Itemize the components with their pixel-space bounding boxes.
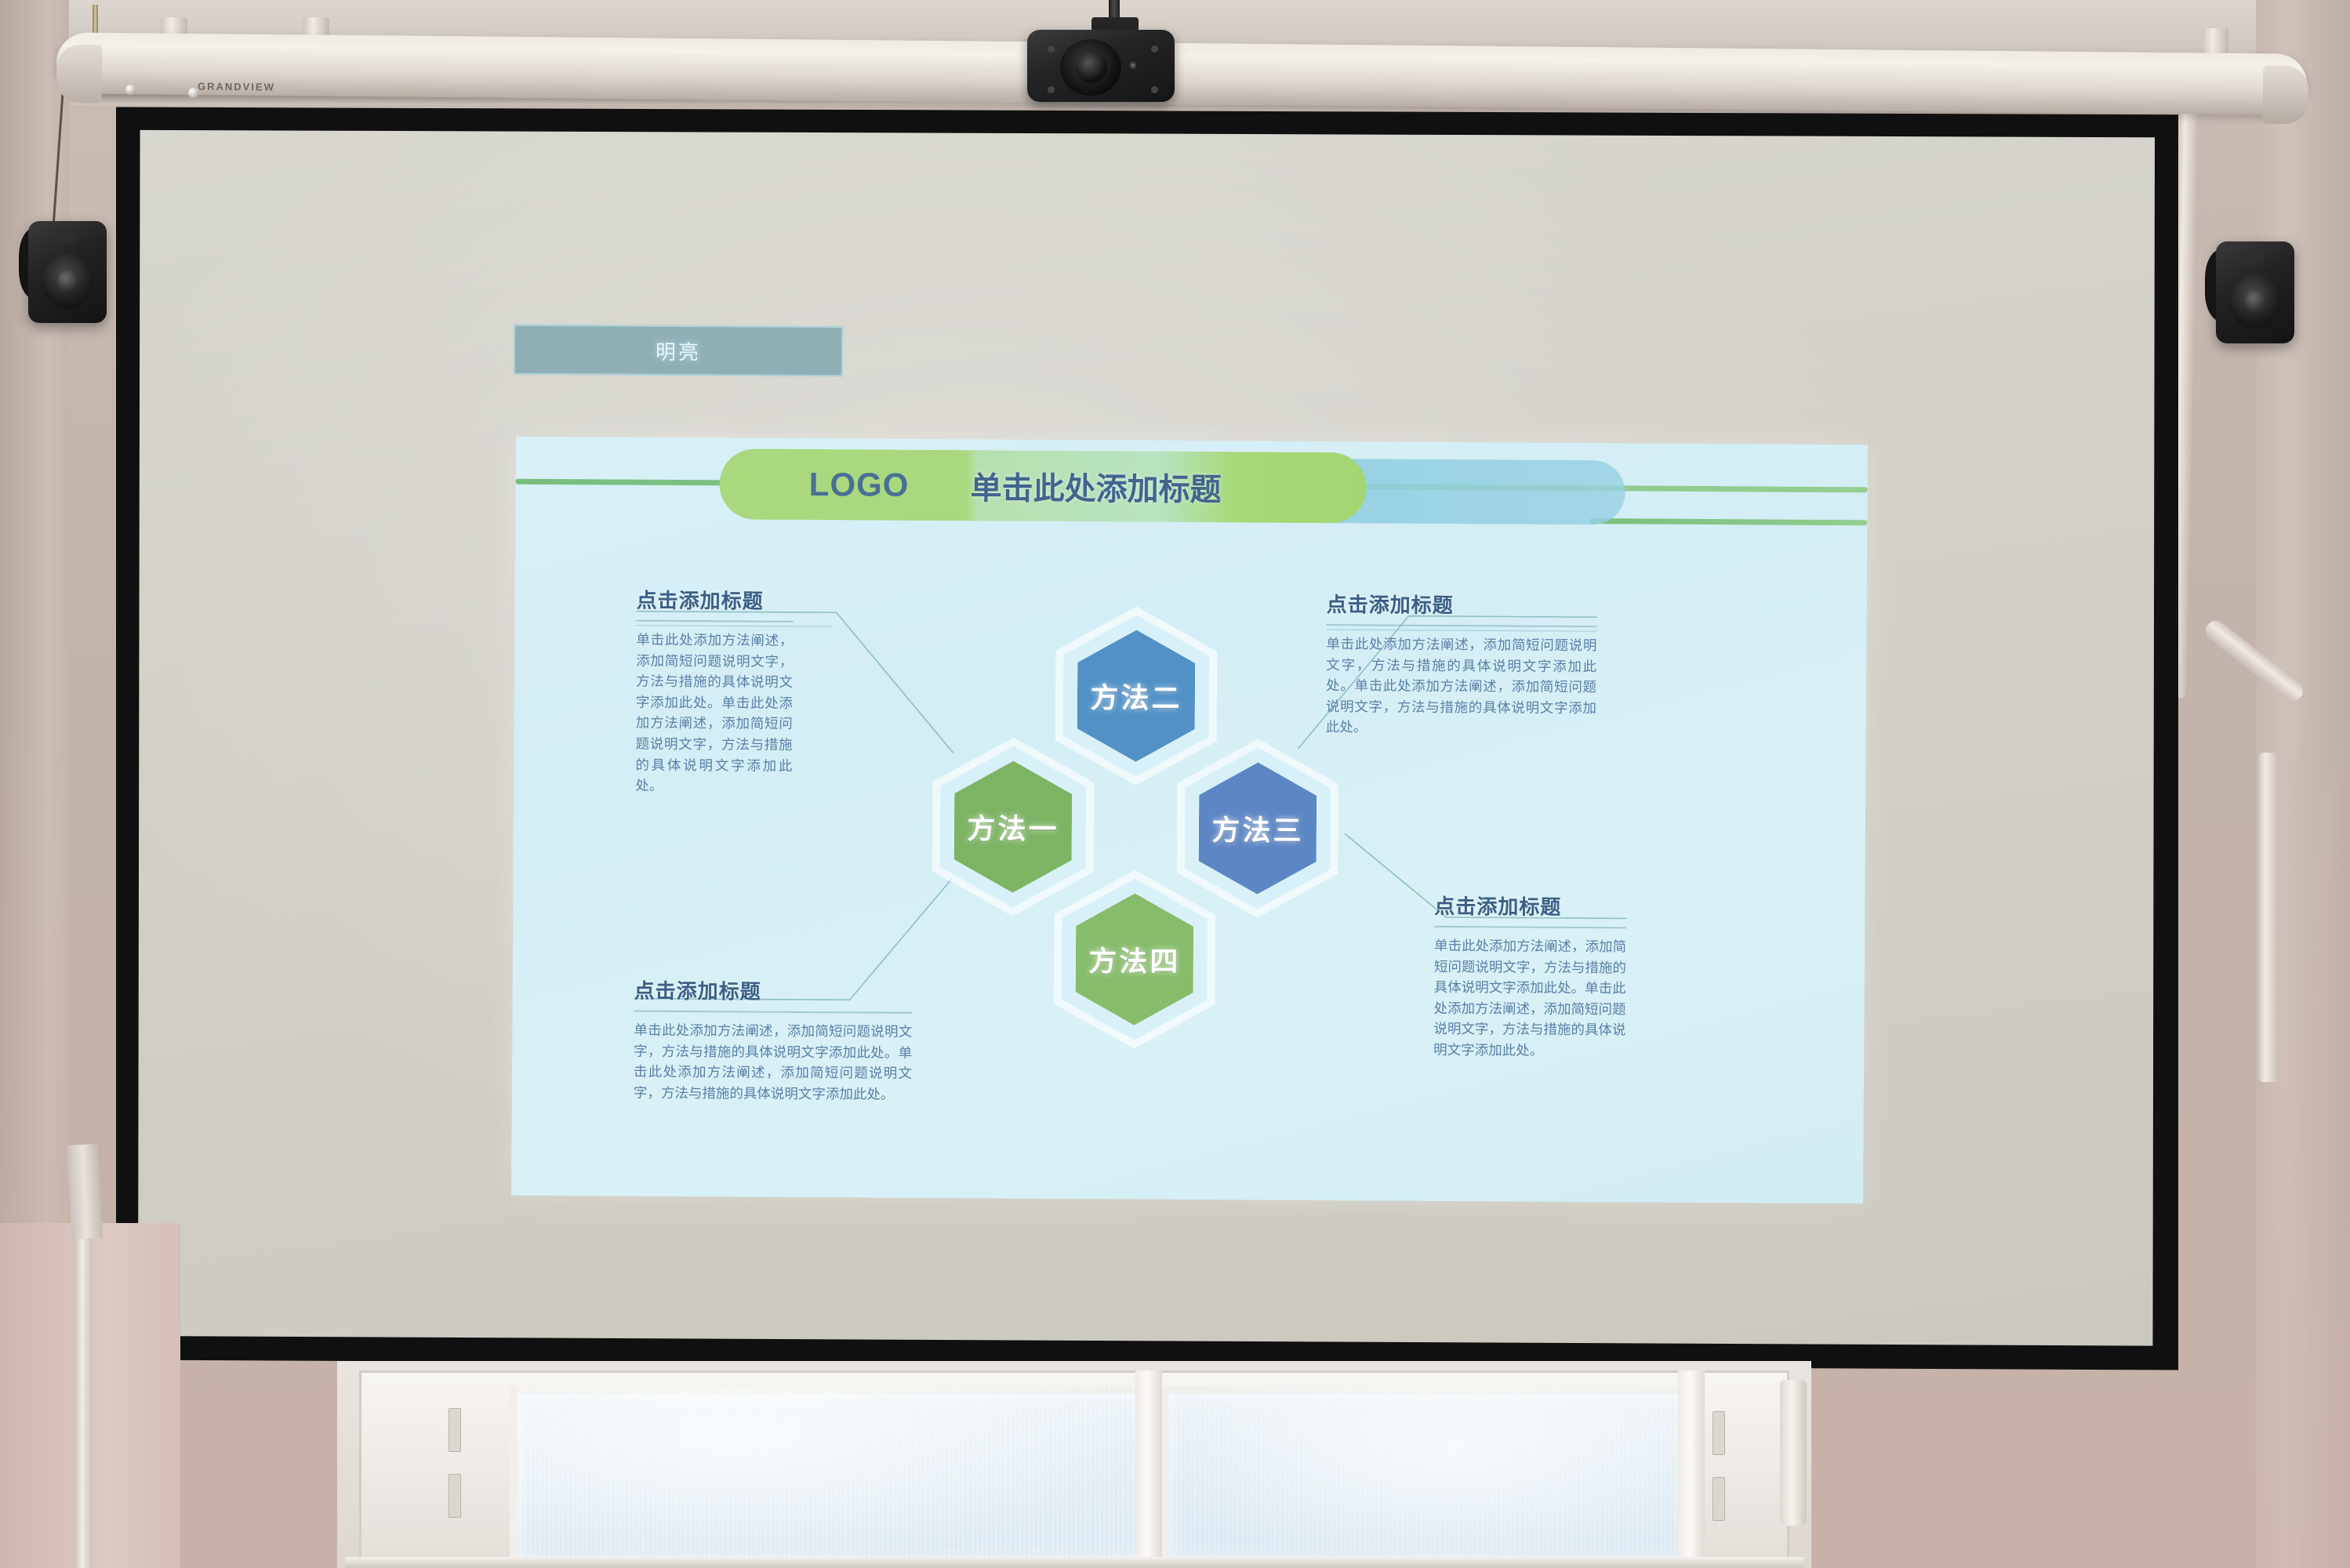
callout-bottom-left-heading: 点击添加标题 <box>634 975 913 1006</box>
camera-brand-logo-icon: ◉ <box>1129 60 1137 70</box>
projected-slide[interactable]: LOGO 单击此处添加标题 <box>511 437 1868 1204</box>
callout-bottom-left-rule <box>634 1011 912 1014</box>
window-curtain-left <box>518 1386 1145 1568</box>
roller-end-cap-right <box>2263 66 2309 125</box>
hexagon-1-label: 方法一 <box>953 760 1072 893</box>
window-mullion-right <box>1678 1370 1705 1568</box>
osd-brightness-label: 明亮 <box>514 325 843 377</box>
callout-bottom-right: 点击添加标题 单击此处添加方法阐述，添加简短问题说明文字，方法与措施的具体说明文… <box>1433 891 1626 1062</box>
wall-conduit-lower <box>2258 753 2279 1082</box>
roller-brand-label: GRANDVIEW <box>198 80 275 93</box>
callout-bottom-right-heading: 点击添加标题 <box>1434 891 1626 920</box>
callout-top-right-body: 单击此处添加方法阐述，添加简短问题说明文字，方法与措施的具体说明文字添加此处。单… <box>1326 633 1597 739</box>
camera-lens-icon <box>1076 52 1107 83</box>
roller-screw <box>188 88 198 98</box>
wall-left-pipe <box>75 1207 93 1568</box>
window-hinge-right-lower <box>1713 1477 1725 1521</box>
roller-end-cap-left <box>56 45 103 103</box>
window-hinge-upper <box>449 1408 461 1452</box>
window-sill <box>345 1557 1803 1568</box>
hexagon-4-label: 方法四 <box>1075 893 1193 1025</box>
roller-screw <box>125 85 136 95</box>
callout-top-right-heading: 点击添加标题 <box>1327 589 1597 619</box>
camera-screw <box>1151 45 1158 53</box>
speaker-tweeter-left <box>55 232 75 243</box>
hexagon-2-label: 方法二 <box>1077 630 1195 762</box>
window-mullion-center <box>1135 1370 1162 1568</box>
slide-canvas: LOGO 单击此处添加标题 <box>511 437 1868 1204</box>
window-hinge-lower <box>449 1474 461 1518</box>
osd-label-text: 明亮 <box>656 336 701 365</box>
callout-bottom-right-body: 单击此处添加方法阐述，添加简短问题说明文字，方法与措施的具体说明文字添加此处。单… <box>1433 935 1626 1062</box>
room-scene: GRANDVIEW ◉ 明亮 LOGO 单击此处添加标题 <box>0 0 2350 1568</box>
window-curtain-right <box>1168 1386 1686 1568</box>
callout-top-right: 点击添加标题 单击此处添加方法阐述，添加简短问题说明文字，方法与措施的具体说明文… <box>1326 589 1597 739</box>
camera-screw <box>1048 45 1055 53</box>
callout-bottom-right-rule <box>1434 926 1626 928</box>
callout-top-left-heading: 点击添加标题 <box>637 585 794 615</box>
camera-screw <box>1151 86 1158 93</box>
window-blind-roller[interactable] <box>1780 1380 1807 1526</box>
callout-top-left: 点击添加标题 单击此处添加方法阐述，添加简短问题说明文字，方法与措施的具体说明文… <box>635 585 794 797</box>
callout-top-right-rule <box>1327 624 1597 627</box>
wall-bracket-lower <box>67 1144 103 1240</box>
speaker-tweeter-right <box>2244 252 2265 263</box>
callout-bottom-left-body: 单击此处添加方法阐述，添加简短问题说明文字，方法与措施的具体说明文字添加此处。单… <box>634 1020 913 1105</box>
callout-top-left-rule <box>637 620 794 622</box>
hexagon-3-label: 方法三 <box>1198 762 1317 895</box>
speaker-dustcap-left <box>57 270 78 291</box>
speaker-dustcap-right <box>2245 291 2265 311</box>
window-hinge-right-upper <box>1713 1411 1725 1455</box>
callout-top-left-body: 单击此处添加方法阐述，添加简短问题说明文字，方法与措施的具体说明文字添加此处。单… <box>635 630 793 797</box>
camera-screw <box>1048 86 1055 93</box>
callout-bottom-left: 点击添加标题 单击此处添加方法阐述，添加简短问题说明文字，方法与措施的具体说明文… <box>634 975 913 1105</box>
